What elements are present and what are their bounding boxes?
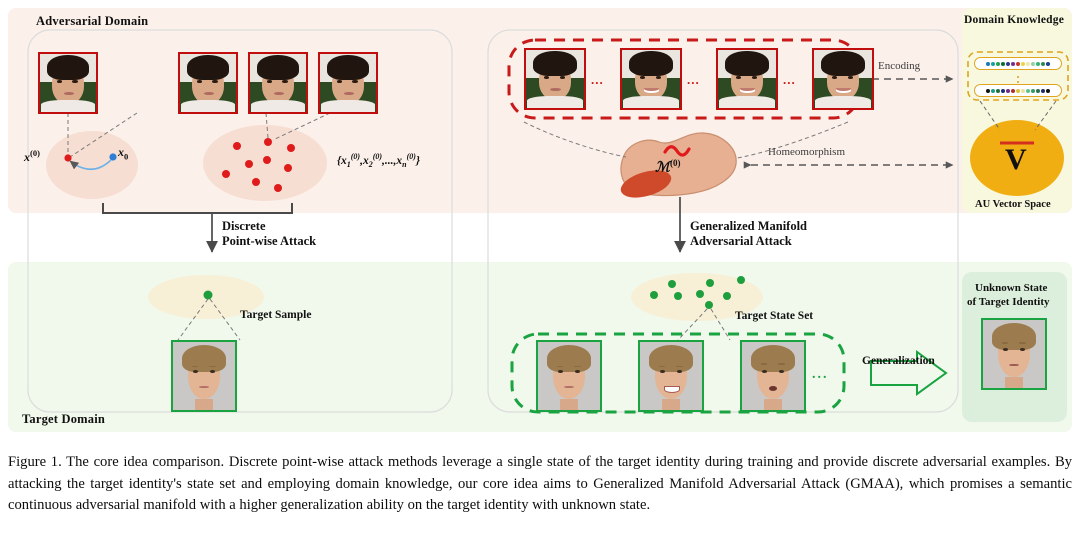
- target-domain-title: Target Domain: [22, 412, 105, 427]
- face-manifold-state-4: [812, 48, 874, 110]
- ellipsis-manifold-1: ...: [591, 72, 604, 88]
- figure-container: Adversarial Domain Target Domain Domain …: [0, 0, 1080, 440]
- manifold-label: ℳ(0): [655, 158, 680, 177]
- discrete-attack-line2: Point-wise Attack: [222, 234, 316, 248]
- figure-caption: Figure 1. The core idea comparison. Disc…: [8, 452, 1072, 517]
- face-manifold-state-3: [716, 48, 778, 110]
- face-manifold-state-2: [620, 48, 682, 110]
- face-unknown-state: [981, 318, 1047, 390]
- domain-knowledge-title: Domain Knowledge: [964, 14, 1064, 26]
- face-source-identity: [38, 52, 98, 114]
- face-manifold-state-1: [524, 48, 586, 110]
- face-adv-example-1: [178, 52, 238, 114]
- au-vector-space-title: AU Vector Space: [975, 199, 1051, 210]
- target-sample-point: [204, 291, 213, 300]
- adversarial-domain-title: Adversarial Domain: [36, 14, 148, 29]
- ellipsis-manifold-2: ...: [687, 72, 700, 88]
- single-sample-ellipse: [46, 131, 138, 199]
- homeomorphism-label: Homeomorphism: [768, 146, 845, 158]
- au-strip-top: [974, 57, 1062, 70]
- adversarial-set-label: {x1(0),x2(0),...,xn(0)}: [337, 152, 420, 169]
- panel-gap: [0, 213, 1080, 262]
- face-target-state-1: [536, 340, 602, 412]
- au-strip-bottom: [974, 84, 1062, 97]
- encoding-label: Encoding: [878, 60, 920, 72]
- x-sub-0-label: x0: [118, 145, 128, 161]
- face-target-state-3: [740, 340, 806, 412]
- ellipsis-manifold-3: ...: [783, 72, 796, 88]
- face-target-sample: [171, 340, 237, 412]
- face-adv-example-3: [318, 52, 378, 114]
- generalization-label: Generalization: [862, 355, 935, 367]
- target-sample-label: Target Sample: [240, 309, 311, 321]
- face-adv-example-2: [248, 52, 308, 114]
- gmaa-line1: Generalized Manifold: [690, 219, 807, 233]
- unknown-state-title-line1: Unknown State: [975, 282, 1047, 294]
- discrete-attack-label: Discrete Point-wise Attack: [222, 219, 392, 249]
- target-state-set-label: Target State Set: [735, 310, 813, 322]
- ellipsis-target-state: ...: [812, 367, 829, 383]
- gmaa-line2: Adversarial Attack: [690, 234, 792, 248]
- v-symbol: V: [1005, 143, 1027, 177]
- face-target-state-2: [638, 340, 704, 412]
- gmaa-label: Generalized Manifold Adversarial Attack: [690, 219, 900, 249]
- discrete-attack-line1: Discrete: [222, 219, 266, 233]
- x-superscript-0-label: x(0): [24, 148, 40, 165]
- unknown-state-title-line2: of Target Identity: [967, 296, 1050, 308]
